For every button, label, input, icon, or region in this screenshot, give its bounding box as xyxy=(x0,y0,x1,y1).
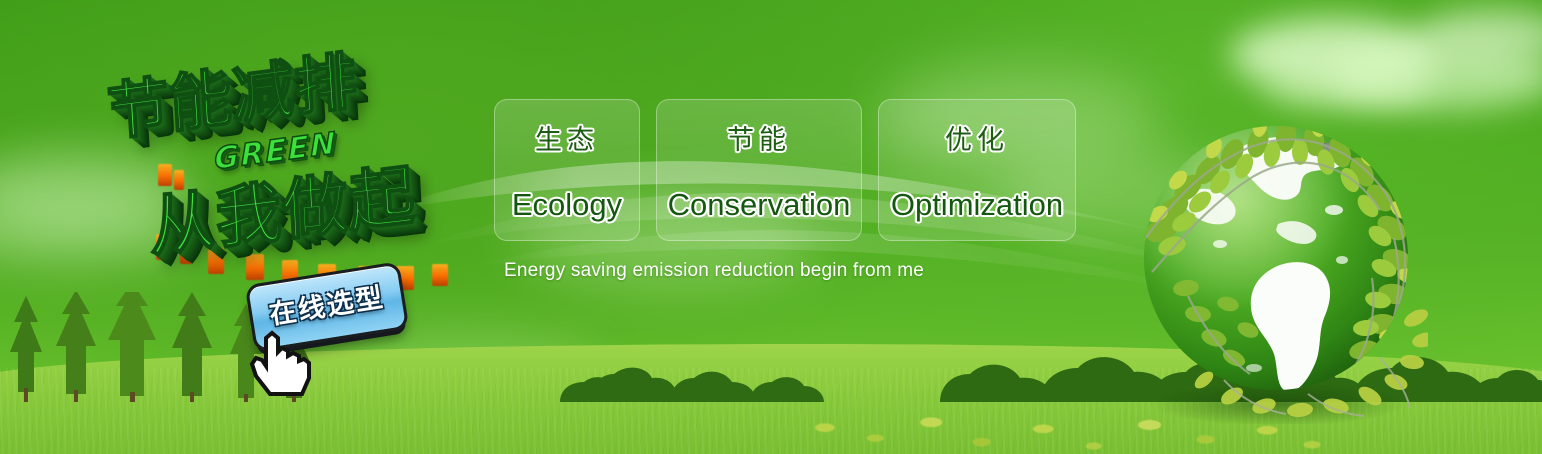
feature-card-cn-label: 优化 xyxy=(945,118,1009,157)
feature-card-en-label: Ecology xyxy=(512,187,622,223)
cloud-icon xyxy=(1330,44,1542,110)
headline-3d-art: 节能减排 GREEN 从我做起 xyxy=(96,38,496,288)
eco-promo-banner: 节能减排 GREEN 从我做起 在线选型 生态 Ecology 节能 Conse… xyxy=(0,0,1542,454)
online-selection-button-label: 在线选型 xyxy=(248,265,406,350)
feature-card-list: 生态 Ecology 节能 Conservation 优化 Optimizati… xyxy=(494,99,1076,241)
online-selection-button[interactable]: 在线选型 xyxy=(248,265,406,350)
headline-line-2: 从我做起 xyxy=(146,142,417,271)
feature-card-ecology[interactable]: 生态 Ecology xyxy=(494,99,640,241)
cloud-icon xyxy=(1418,8,1542,62)
feature-card-cn-label: 节能 xyxy=(727,118,791,157)
feature-card-en-label: Conservation xyxy=(668,187,851,223)
tagline-text: Energy saving emission reduction begin f… xyxy=(504,260,924,282)
feature-card-en-label: Optimization xyxy=(891,187,1063,223)
cloud-icon xyxy=(1262,62,1432,110)
cloud-icon xyxy=(1230,18,1440,92)
feature-card-cn-label: 生态 xyxy=(535,118,599,157)
feature-card-conservation[interactable]: 节能 Conservation xyxy=(656,99,862,241)
leafy-green-globe-icon xyxy=(1128,118,1428,424)
cta-area: 在线选型 xyxy=(252,276,432,396)
feature-card-optimization[interactable]: 优化 Optimization xyxy=(878,99,1076,241)
